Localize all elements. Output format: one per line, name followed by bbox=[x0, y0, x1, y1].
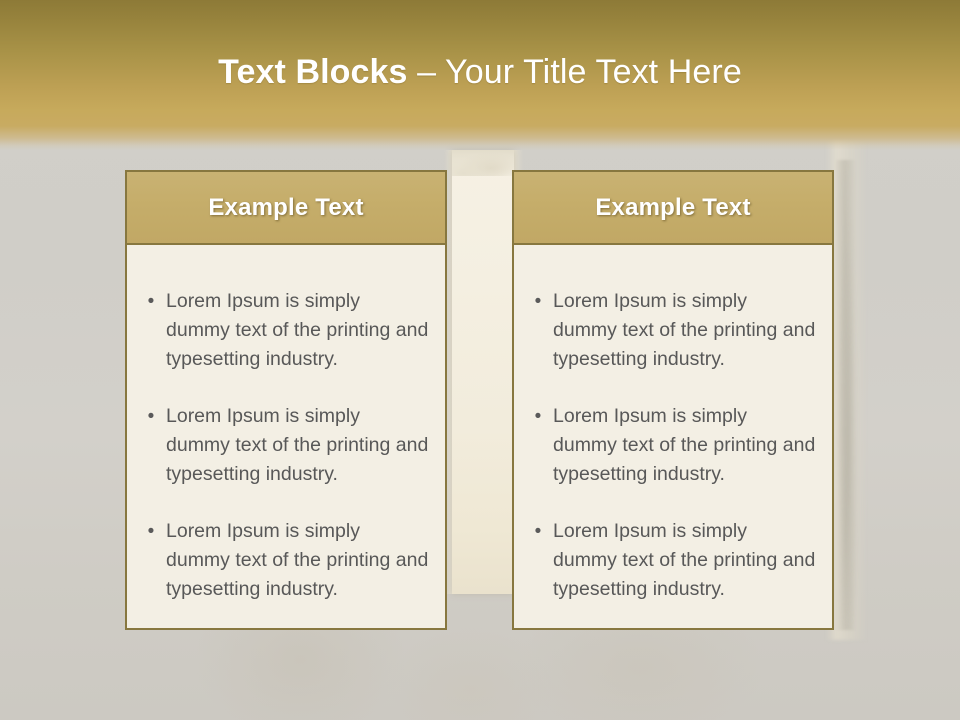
text-block-right-header-label: Example Text bbox=[595, 194, 750, 222]
list-item-text: Lorem Ipsum is simply dummy text of the … bbox=[165, 517, 429, 604]
list-item: • Lorem Ipsum is simply dummy text of th… bbox=[524, 402, 816, 489]
list-item-text: Lorem Ipsum is simply dummy text of the … bbox=[552, 287, 816, 374]
text-block-left-header[interactable]: Example Text bbox=[125, 170, 447, 245]
title-band: Text Blocks – Your Title Text Here bbox=[0, 0, 960, 150]
page-title: Text Blocks – Your Title Text Here bbox=[0, 50, 960, 94]
bullet-icon: • bbox=[524, 287, 552, 316]
text-block-right-header[interactable]: Example Text bbox=[512, 170, 834, 245]
list-item: • Lorem Ipsum is simply dummy text of th… bbox=[137, 287, 429, 374]
list-item-text: Lorem Ipsum is simply dummy text of the … bbox=[552, 402, 816, 489]
bullet-icon: • bbox=[137, 402, 165, 431]
list-item: • Lorem Ipsum is simply dummy text of th… bbox=[524, 287, 816, 374]
background-parchment-marks bbox=[836, 160, 858, 630]
page-title-strong: Text Blocks bbox=[218, 53, 417, 91]
bullet-icon: • bbox=[524, 402, 552, 431]
list-item-text: Lorem Ipsum is simply dummy text of the … bbox=[165, 287, 429, 374]
list-item: • Lorem Ipsum is simply dummy text of th… bbox=[137, 517, 429, 604]
page-title-light: – Your Title Text Here bbox=[417, 53, 742, 91]
text-block-left[interactable]: Example Text • Lorem Ipsum is simply dum… bbox=[125, 170, 447, 630]
text-block-right[interactable]: Example Text • Lorem Ipsum is simply dum… bbox=[512, 170, 834, 630]
paper-torn-edge bbox=[452, 150, 514, 176]
bullet-icon: • bbox=[137, 287, 165, 316]
text-block-left-header-label: Example Text bbox=[208, 194, 363, 222]
list-item-text: Lorem Ipsum is simply dummy text of the … bbox=[165, 402, 429, 489]
list-item: • Lorem Ipsum is simply dummy text of th… bbox=[137, 402, 429, 489]
background-paper-panel bbox=[452, 150, 514, 594]
bullet-icon: • bbox=[137, 517, 165, 546]
text-block-right-body: • Lorem Ipsum is simply dummy text of th… bbox=[512, 245, 834, 630]
slide-canvas: Text Blocks – Your Title Text Here Examp… bbox=[0, 0, 960, 720]
list-item: • Lorem Ipsum is simply dummy text of th… bbox=[524, 517, 816, 604]
list-item-text: Lorem Ipsum is simply dummy text of the … bbox=[552, 517, 816, 604]
bullet-icon: • bbox=[524, 517, 552, 546]
text-block-left-body: • Lorem Ipsum is simply dummy text of th… bbox=[125, 245, 447, 630]
